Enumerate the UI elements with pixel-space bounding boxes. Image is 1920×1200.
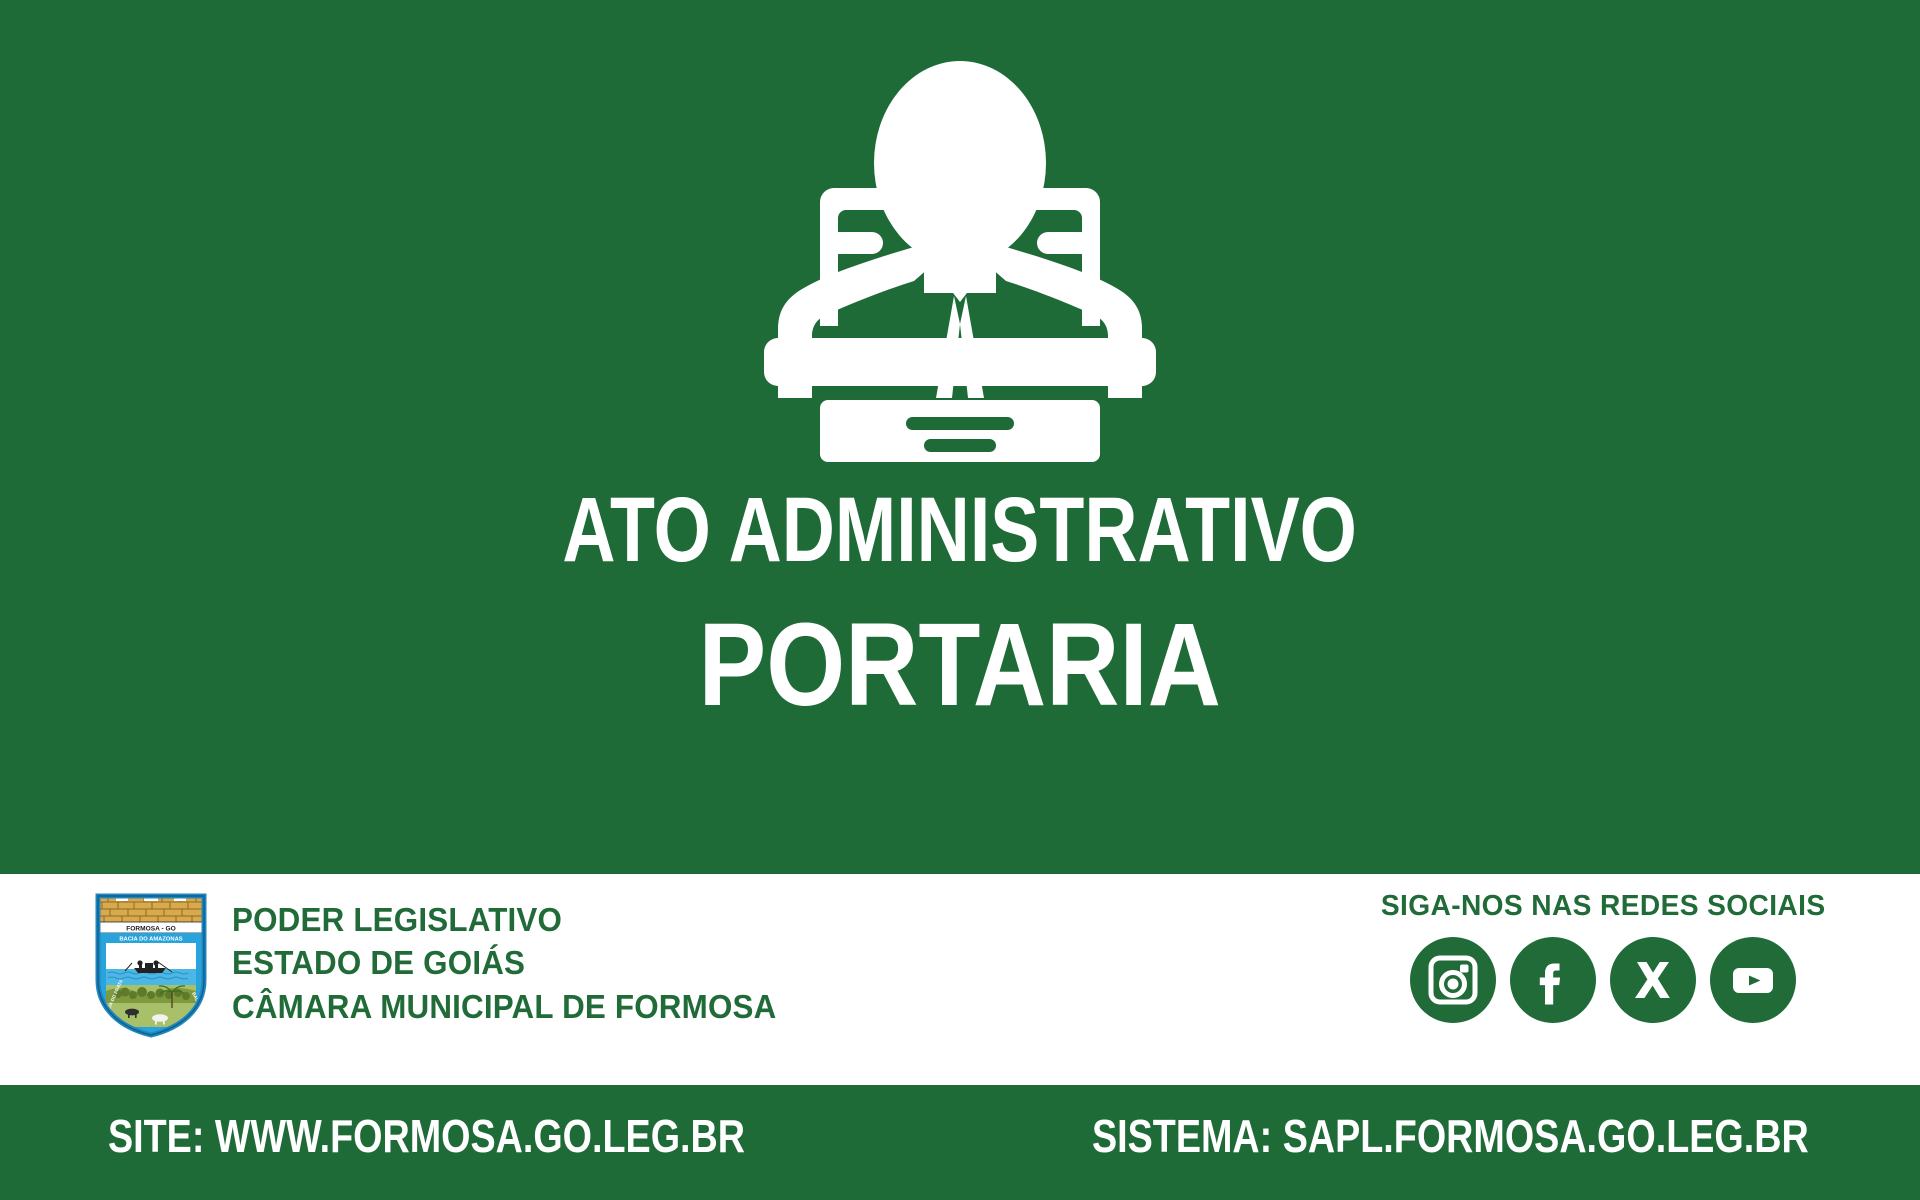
brand-line-1: PODER LEGISLATIVO [232, 899, 776, 941]
brand-line-2: ESTADO DE GOIÁS [232, 942, 776, 984]
youtube-link[interactable] [1710, 937, 1796, 1023]
brand-text: PODER LEGISLATIVO ESTADO DE GOIÁS CÂMARA… [232, 899, 805, 1028]
footer-site-text: SITE: WWW.FORMOSA.GO.LEG.BR [108, 1113, 745, 1159]
speaker-at-podium-icon [758, 46, 1162, 470]
info-band: FORMOSA - GO BACIA DO AMAZONAS [0, 874, 1920, 1085]
instagram-link[interactable] [1410, 937, 1496, 1023]
brand-block: FORMOSA - GO BACIA DO AMAZONAS [92, 888, 805, 1038]
instagram-icon [1428, 955, 1478, 1005]
footer-system-text: SISTEMA: SAPL.FORMOSA.GO.LEG.BR [1092, 1113, 1809, 1159]
x-twitter-icon [1628, 955, 1678, 1005]
social-block: SIGA-NOS NAS REDES SOCIAIS [1374, 890, 1832, 1023]
crest-basin-top-label: BACIA DO AMAZONAS [119, 937, 182, 943]
page-subtitle: PORTARIA [699, 606, 1221, 724]
footer-bar: SITE: WWW.FORMOSA.GO.LEG.BR SISTEMA: SAP… [0, 1085, 1920, 1200]
page-title: ATO ADMINISTRATIVO [563, 484, 1358, 576]
x-twitter-link[interactable] [1610, 937, 1696, 1023]
facebook-icon [1528, 955, 1578, 1005]
youtube-icon [1728, 955, 1778, 1005]
hero-section: ATO ADMINISTRATIVO PORTARIA [0, 0, 1920, 874]
formosa-go-coat-of-arms: FORMOSA - GO BACIA DO AMAZONAS [92, 888, 210, 1038]
brand-line-3: CÂMARA MUNICIPAL DE FORMOSA [232, 986, 776, 1028]
social-heading: SIGA-NOS NAS REDES SOCIAIS [1381, 890, 1826, 923]
crest-city-label: FORMOSA - GO [126, 925, 176, 932]
facebook-link[interactable] [1510, 937, 1596, 1023]
social-icon-row [1410, 937, 1796, 1023]
poster-root: ATO ADMINISTRATIVO PORTARIA [0, 0, 1920, 1200]
